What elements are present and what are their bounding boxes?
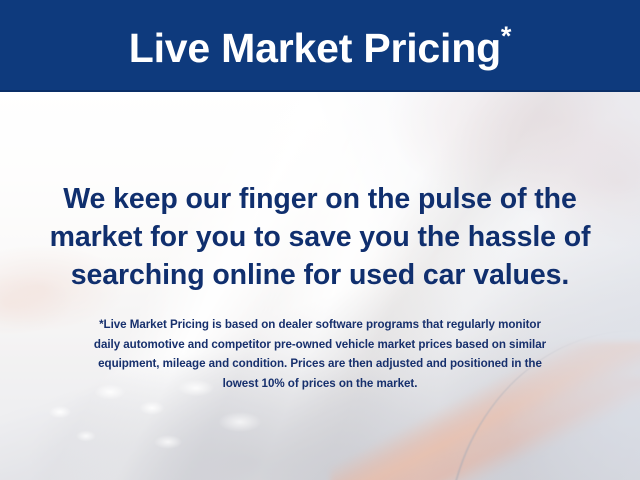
disclaimer-line: equipment, mileage and condition. Prices…: [30, 354, 610, 374]
disclaimer-line: lowest 10% of prices on the market.: [30, 374, 610, 394]
page-title-asterisk: *: [501, 21, 511, 51]
live-market-pricing-poster: Live Market Pricing* We keep our finger …: [0, 0, 640, 480]
disclaimer-line: daily automotive and competitor pre-owne…: [30, 335, 610, 355]
headline-line: We keep our finger on the pulse of the: [26, 180, 614, 218]
page-title-text: Live Market Pricing: [129, 25, 501, 71]
header-band-bottom-edge: [0, 90, 640, 92]
disclaimer-line: *Live Market Pricing is based on dealer …: [30, 315, 610, 335]
header-band: Live Market Pricing*: [0, 0, 640, 90]
disclaimer-text: *Live Market Pricing is based on dealer …: [0, 315, 640, 393]
headline-line: searching online for used car values.: [26, 256, 614, 294]
page-title: Live Market Pricing*: [129, 23, 511, 69]
headline-line: market for you to save you the hassle of: [26, 218, 614, 256]
headline: We keep our finger on the pulse of the m…: [0, 180, 640, 294]
content-area: We keep our finger on the pulse of the m…: [0, 92, 640, 480]
